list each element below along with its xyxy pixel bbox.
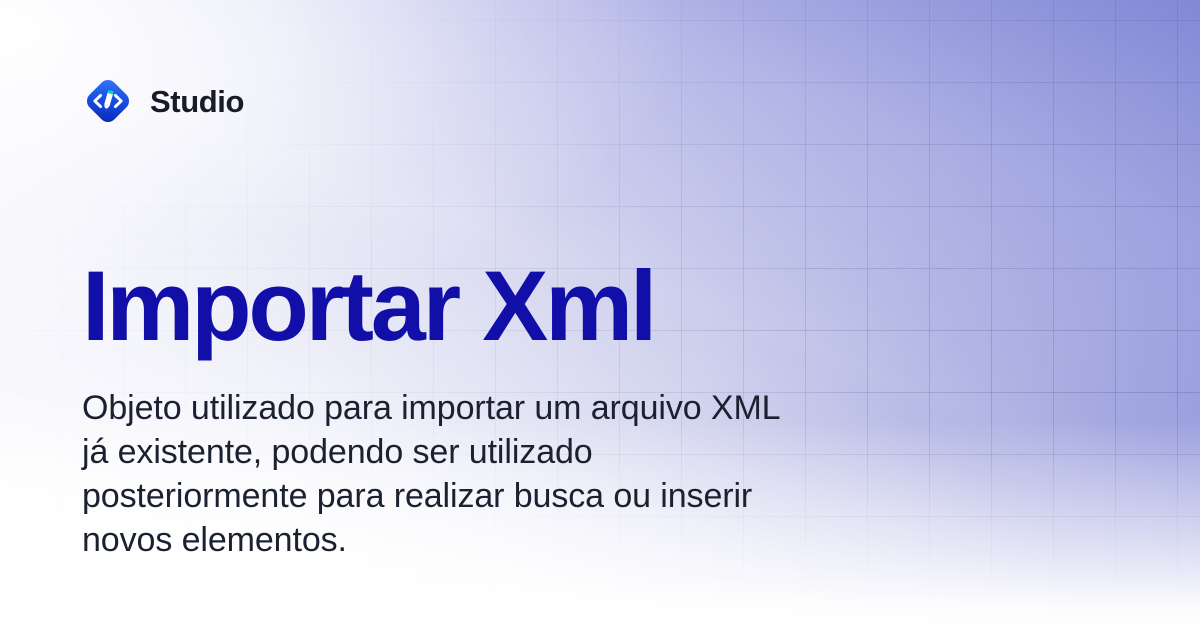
code-pencil-diamond-icon — [82, 75, 134, 127]
hero-content: Studio Importar Xml Objeto utilizado par… — [0, 0, 1200, 630]
brand-name-label: Studio — [150, 86, 244, 117]
page-description: Objeto utilizado para importar um arquiv… — [82, 386, 872, 562]
page-title: Importar Xml — [82, 255, 654, 358]
hero-banner: Studio Importar Xml Objeto utilizado par… — [0, 0, 1200, 630]
brand-lockup[interactable]: Studio — [82, 75, 244, 127]
